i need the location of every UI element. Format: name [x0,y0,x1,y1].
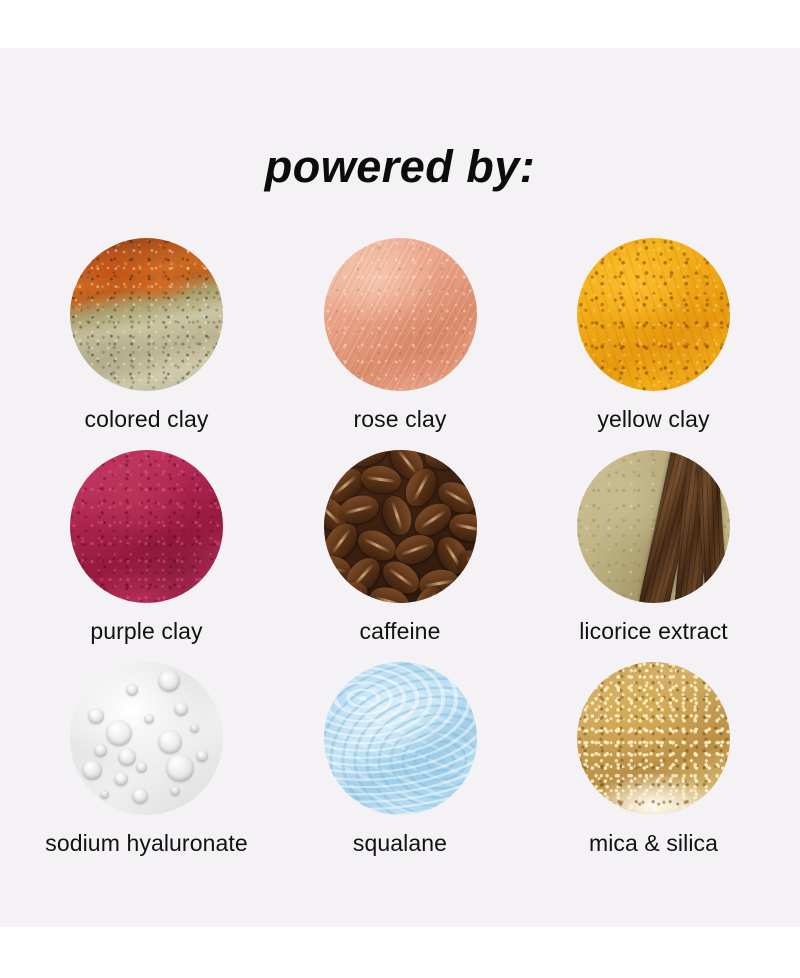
purple-clay-swatch [70,450,223,603]
colored-clay-swatch [70,238,223,391]
ingredient-label: licorice extract [579,620,728,643]
ingredient-label: colored clay [85,408,209,431]
ingredient-row: sodium hyaluronate squalane mica & silic… [20,662,780,874]
caffeine-swatch [324,450,477,603]
squalane-swatch [324,662,477,815]
ingredient-item-purple-clay[interactable]: purple clay [20,450,273,643]
ingredient-item-colored-clay[interactable]: colored clay [20,238,273,431]
ingredient-item-caffeine[interactable]: caffeine [274,450,527,643]
ingredient-grid: colored clay rose clay yellow clay [20,238,780,874]
powder-texture-overlay [324,238,477,391]
ingredient-label: caffeine [360,620,441,643]
ingredient-label: rose clay [354,408,447,431]
powder-texture-overlay [70,450,223,603]
powder-texture-overlay [577,238,730,391]
gel-bubbles-texture [70,662,223,815]
sodium-hyaluronate-swatch [70,662,223,815]
ingredient-item-mica-silica[interactable]: mica & silica [527,662,780,855]
ingredient-item-rose-clay[interactable]: rose clay [274,238,527,431]
content-panel: powered by: colored clay rose clay [0,48,800,927]
coffee-beans-texture [324,450,477,603]
licorice-extract-swatch [577,450,730,603]
licorice-root-sticks [577,450,730,603]
yellow-clay-swatch [577,238,730,391]
ingredient-item-licorice-extract[interactable]: licorice extract [527,450,780,643]
ingredients-infographic: powered by: colored clay rose clay [0,0,800,978]
ingredient-row: colored clay rose clay yellow clay [20,238,780,450]
ingredient-item-yellow-clay[interactable]: yellow clay [527,238,780,431]
gel-swirl-texture [324,662,477,815]
powder-texture-overlay [70,238,223,391]
ingredient-row: purple clay [20,450,780,662]
glitter-texture-overlay [577,662,730,815]
page-title: powered by: [0,141,800,193]
ingredient-item-squalane[interactable]: squalane [274,662,527,855]
ingredient-label: mica & silica [589,832,718,855]
mica-silica-swatch [577,662,730,815]
rose-clay-swatch [324,238,477,391]
ingredient-label: squalane [353,832,447,855]
ingredient-label: purple clay [90,620,202,643]
ingredient-label: yellow clay [597,408,709,431]
ingredient-label: sodium hyaluronate [45,832,248,855]
ingredient-item-sodium-hyaluronate[interactable]: sodium hyaluronate [20,662,273,855]
